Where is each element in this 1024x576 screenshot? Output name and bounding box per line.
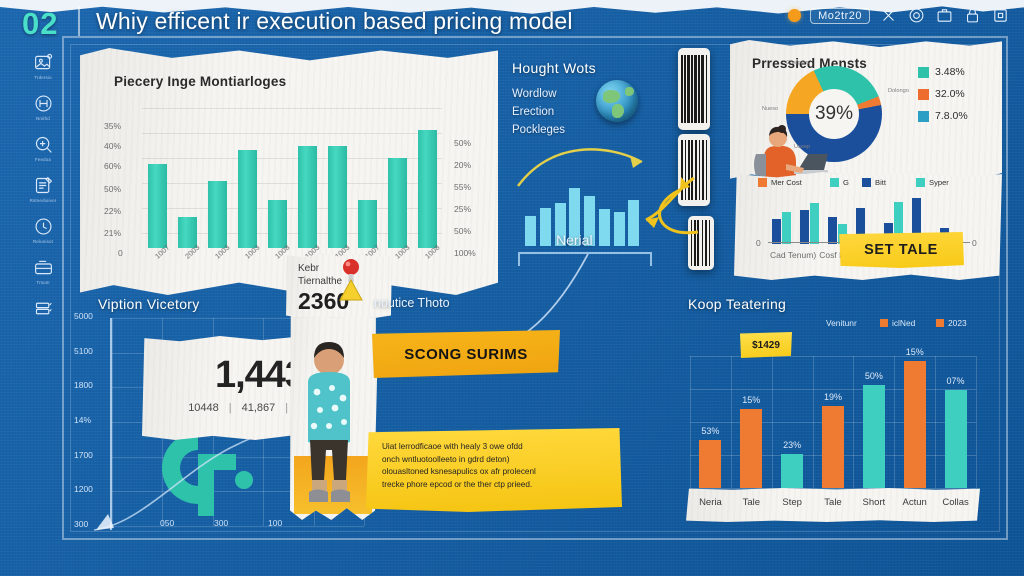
y-axis-tick: 60% (104, 161, 121, 171)
clock-icon (33, 216, 54, 237)
y-axis-tick: 50% (104, 184, 121, 194)
legend-swatch (916, 178, 925, 187)
note-line: Uiat lerrodficaoe with healy 3 owe ofdd (382, 441, 610, 454)
y-axis-tick-right: 25% (454, 204, 471, 214)
sidebar-item-label: Relunisot (33, 239, 53, 244)
globe-icon (596, 80, 638, 122)
legend-swatch (880, 319, 888, 327)
bar (945, 390, 967, 488)
image-card-icon (33, 52, 54, 73)
bottom-left-panel-title: Viption Vicetory (98, 296, 200, 312)
bar (810, 203, 819, 244)
status-dot-icon (788, 9, 801, 22)
set-tale-button[interactable]: SET TALE (838, 232, 964, 268)
legend-item: 32.0% (918, 88, 965, 100)
middle-panel-title: Hought Wots (512, 60, 596, 76)
sidebar-item-layers[interactable] (22, 298, 64, 321)
close-icon[interactable] (879, 6, 898, 25)
legend-item: Mer Cost (758, 178, 802, 187)
top-right-donut-card: Prressied Mensts 39% Nueso Costparn Usee… (730, 40, 1002, 180)
bar-value-label: 50% (859, 371, 889, 381)
boy-standing-illustration (298, 338, 360, 514)
bar (388, 158, 407, 248)
x-axis-category: Step (769, 497, 815, 508)
legend-label: 2023 (948, 318, 967, 328)
legend-item: Bitt (862, 178, 886, 187)
y-axis-tick: 21% (104, 228, 121, 238)
sidebar-item-trsum[interactable]: Trsum (22, 257, 64, 285)
legend-label: Syper (929, 178, 949, 187)
bar (772, 219, 781, 244)
bar (828, 217, 837, 244)
slide-number: 02 (22, 6, 58, 42)
bar-value-label: 15% (736, 395, 766, 405)
gridline (976, 356, 977, 488)
card-title: Piecery Inge Montiarloges (114, 74, 286, 89)
note-line: olouasltoned ksnesapulics ox afr prolece… (382, 466, 610, 479)
sidebar-item-trdersio[interactable]: Trdersio (22, 52, 64, 80)
bar (800, 210, 809, 244)
gridline (142, 133, 442, 134)
stat-sub-value: 10448 (188, 402, 219, 414)
x-axis-category: Tale (810, 497, 856, 508)
list-item: Wordlow (512, 88, 565, 100)
bar (822, 406, 844, 488)
sidebar-item-label: Feedoa (35, 157, 51, 162)
network-node-icon (33, 93, 54, 114)
legend-swatch (862, 178, 871, 187)
legend-label: 32.0% (935, 88, 965, 100)
y-axis-tick-right: 20% (454, 160, 471, 170)
legend-item: G (830, 178, 849, 187)
legend-label: Venitunr (826, 318, 857, 328)
legend-swatch (918, 67, 929, 78)
sidebar: Trdersio Nnithd Feedoa Rstnedioivor Relu… (22, 52, 64, 321)
sidebar-item-label: Rstnedioivor (30, 198, 57, 203)
bottom-right-panel-title: Koop Teatering (688, 296, 786, 312)
legend-label: 7.8.0% (935, 110, 968, 122)
note-line: onch wntluotoolleeto in gdrd deton) (382, 454, 610, 467)
y-axis-tick: 5100 (74, 346, 93, 356)
gridline (690, 488, 976, 489)
x-axis-category: Neria (687, 497, 733, 508)
y-axis-tick-right: 50% (454, 138, 471, 148)
axis-zero-right: 0 (972, 238, 977, 248)
value-tag: $1429 (740, 332, 792, 358)
bar (418, 130, 437, 248)
top-toolbar: Mo2tr20 (788, 6, 1010, 25)
legend-swatch (918, 89, 929, 100)
donut-center-label: 39% (786, 66, 882, 162)
bar (358, 200, 377, 248)
stat-sub-value: 41,867 (242, 402, 276, 414)
bar-value-label: 19% (818, 392, 848, 402)
lock-icon[interactable] (963, 6, 982, 25)
card-list-icon (33, 257, 54, 278)
y-axis-tick: 14% (74, 415, 91, 425)
arrow-loop-icon (636, 160, 712, 256)
y-axis-tick: 5000 (74, 311, 93, 321)
target-icon[interactable] (907, 6, 926, 25)
bar (328, 146, 347, 248)
bar (699, 440, 721, 488)
sidebar-item-label: Nnithd (36, 116, 50, 121)
donut-callout: Dolongo (888, 88, 909, 94)
y-axis-tick: 300 (74, 519, 88, 529)
bar (740, 409, 762, 488)
bar (208, 181, 227, 248)
legend-item: 3.48% (918, 66, 965, 78)
search-icon (33, 134, 54, 155)
x-axis-category: Tale (728, 497, 774, 508)
bar (268, 200, 287, 248)
page-title: Whiy efficent ir execution based pricing… (96, 8, 573, 35)
list-item: Erection (512, 106, 565, 118)
bar-value-label: 53% (695, 426, 725, 436)
y-axis-tick: 35% (104, 121, 121, 131)
bar-value-label: 15% (900, 347, 930, 357)
y-axis-tick: 0 (118, 248, 123, 258)
x-axis-category: Cad Tenum) (770, 250, 816, 260)
barcode-icon (678, 48, 710, 130)
y-axis-tick-right: 50% (454, 226, 471, 236)
bar (781, 454, 803, 488)
status-badge[interactable]: Mo2tr20 (810, 8, 870, 24)
y-axis-tick: 40% (104, 141, 121, 151)
legend-swatch (830, 178, 839, 187)
bar-value-label: 23% (777, 440, 807, 450)
center-label: noutice Thoto (374, 296, 450, 310)
donut-callout: Nueso (762, 106, 778, 112)
sidebar-item-nnithd[interactable]: Nnithd (22, 93, 64, 121)
x-axis-category: Short (851, 497, 897, 508)
bar (904, 361, 926, 488)
x-axis-category: Collas (933, 497, 979, 508)
legend-item: 2023 (936, 318, 967, 328)
y-axis-tick: 22% (104, 206, 121, 216)
legend-item: Syper (916, 178, 949, 187)
divider: | (229, 402, 232, 414)
bar (238, 150, 257, 248)
bar (782, 212, 791, 244)
y-axis-tick-right: 55% (454, 182, 471, 192)
note-line: Kebr (298, 263, 319, 274)
x-axis-category: Actun (892, 497, 938, 508)
bottom-right-label-strip: NeriaTaleStepTaleShortActunCollas (686, 488, 980, 522)
note-line: trecke phore epcod or the ther ctp priee… (382, 479, 610, 492)
legend-label: G (843, 178, 849, 187)
legend-item: 7.8.0% (918, 110, 968, 122)
yellow-note: Uiat lerrodficaoe with healy 3 owe ofdd … (366, 428, 622, 512)
legend-swatch (918, 111, 929, 122)
sidebar-item-feedoa[interactable]: Feedoa (22, 134, 64, 162)
legend-label: Mer Cost (771, 178, 802, 187)
legend-swatch (936, 319, 944, 327)
sidebar-item-label: Trdersio (34, 75, 52, 80)
bar (298, 146, 317, 248)
bar (863, 385, 885, 488)
bottom-right-bar-chart (690, 356, 976, 488)
sidebar-item-rstnedioivor[interactable]: Rstnedioivor (22, 175, 64, 203)
legend-item: Venitunr (826, 318, 857, 328)
top-left-bar-chart (142, 108, 442, 248)
bar-value-label: 07% (941, 376, 971, 386)
briefcase-icon[interactable] (935, 6, 954, 25)
legend-label: iclNed (892, 318, 915, 328)
legend-label: 3.48% (935, 66, 965, 78)
y-axis-tick: 1800 (74, 380, 93, 390)
slide-canvas: 02 Whiy efficent ir execution based pric… (0, 0, 1024, 576)
header-divider (78, 6, 80, 36)
bar (148, 164, 167, 248)
sidebar-item-label: Trsum (36, 280, 49, 285)
sidebar-item-relunisot[interactable]: Relunisot (22, 216, 64, 244)
legend-label: Bitt (875, 178, 886, 187)
axis-zero-left: 0 (756, 238, 761, 248)
app-icon[interactable] (991, 6, 1010, 25)
divider: | (285, 402, 288, 414)
push-pin-icon (334, 258, 368, 302)
layers-icon (33, 298, 54, 319)
legend-swatch (758, 178, 767, 187)
gridline (142, 108, 442, 109)
document-edit-icon (33, 175, 54, 196)
scong-surims-banner[interactable]: SCONG SURIMS (372, 330, 560, 378)
legend-item: iclNed (880, 318, 915, 328)
